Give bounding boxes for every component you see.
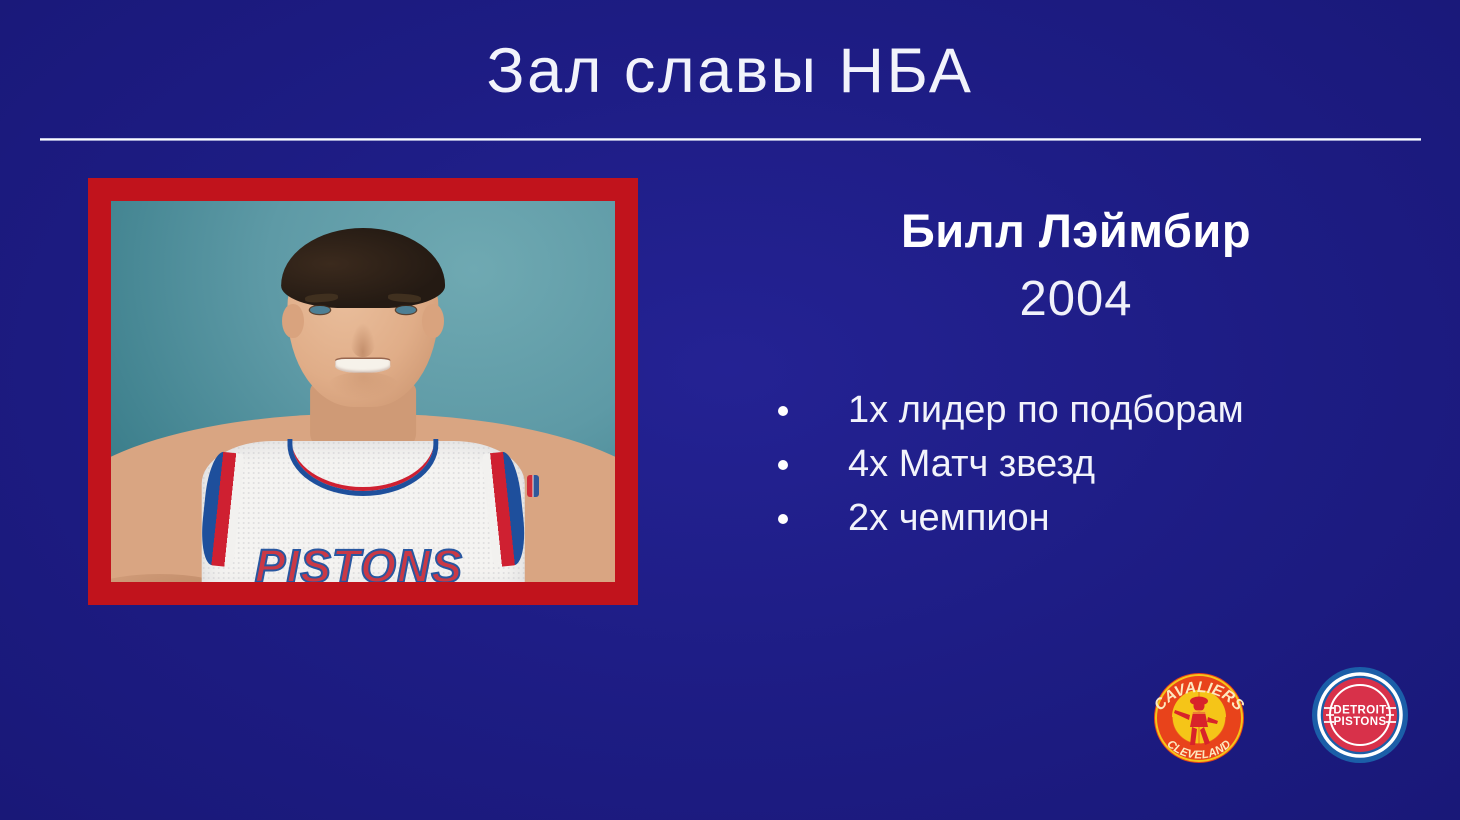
title-divider [40, 138, 1421, 141]
achievement-list: 1x лидер по подборам 4x Матч звезд 2x че… [720, 384, 1432, 546]
bullet-icon [778, 460, 788, 470]
photo-mouth [335, 359, 390, 373]
player-photo-frame: PISTONS [88, 178, 638, 605]
page-title: Зал славы НБА [0, 38, 1460, 104]
photo-chin [328, 372, 399, 399]
slide-root: Зал славы НБА PISTONS [0, 0, 1460, 820]
photo-nose [350, 323, 375, 357]
list-item: 1x лидер по подборам [720, 384, 1432, 438]
achievement-label: 4x Матч звезд [848, 443, 1095, 485]
player-name: Билл Лэймбир [720, 205, 1432, 258]
pistons-line1: DETROIT [1333, 705, 1386, 717]
jersey-wordmark: PISTONS [255, 539, 463, 582]
achievement-label: 2x чемпион [848, 497, 1050, 539]
player-photo: PISTONS [111, 201, 615, 582]
pistons-line2: PISTONS [1333, 716, 1386, 728]
list-item: 4x Матч звезд [720, 438, 1432, 492]
nba-logo-patch [527, 475, 539, 497]
bullet-icon [778, 514, 788, 524]
photo-eye-right [396, 306, 416, 314]
cavaliers-logo-icon: CAVALIERS CLEVELAND [1140, 665, 1258, 769]
photo-ear-right [422, 304, 443, 338]
player-info: Билл Лэймбир 2004 1x лидер по подборам 4… [720, 205, 1432, 546]
induction-year: 2004 [720, 270, 1432, 329]
photo-ear-left [282, 304, 303, 338]
list-item: 2x чемпион [720, 492, 1432, 546]
achievement-label: 1x лидер по подборам [848, 389, 1244, 431]
team-logos: CAVALIERS CLEVELAND DETROIT PISTONS [1140, 665, 1430, 775]
bullet-icon [778, 406, 788, 416]
pistons-logo-icon: DETROIT PISTONS [1310, 665, 1410, 765]
